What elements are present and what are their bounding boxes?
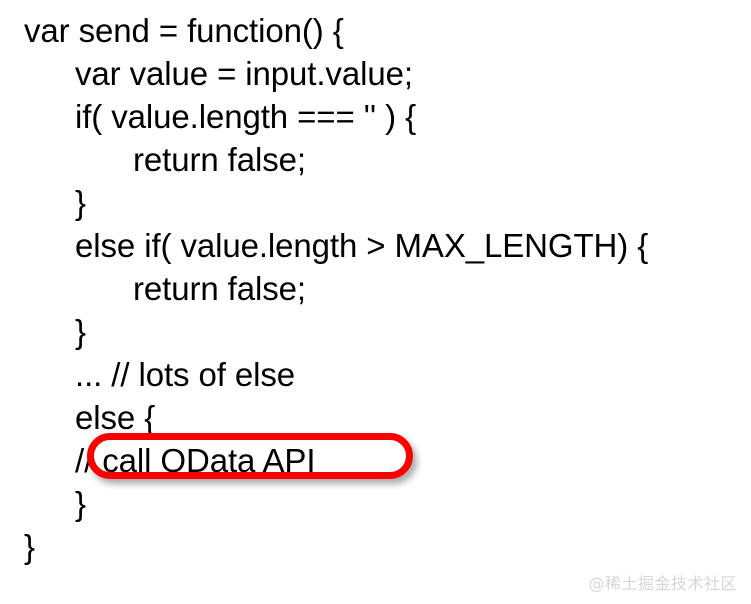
code-line: if( value.length === '' ) { (0, 95, 751, 138)
watermark-text: @稀土掘金技术社区 (588, 570, 737, 594)
code-line: } (0, 181, 751, 224)
code-line: else { (0, 396, 751, 439)
code-line: } (0, 310, 751, 353)
code-line-highlighted: // call OData API (0, 439, 751, 482)
code-line: var value = input.value; (0, 52, 751, 95)
code-line: return false; (0, 267, 751, 310)
code-line: var send = function() { (0, 9, 751, 52)
code-listing: var send = function() { var value = inpu… (0, 0, 751, 568)
code-line: } (0, 525, 751, 568)
slide-canvas: var send = function() { var value = inpu… (0, 0, 751, 604)
code-line: ... // lots of else (0, 353, 751, 396)
code-line: return false; (0, 138, 751, 181)
code-line: } (0, 482, 751, 525)
code-line: else if( value.length > MAX_LENGTH) { (0, 224, 751, 267)
